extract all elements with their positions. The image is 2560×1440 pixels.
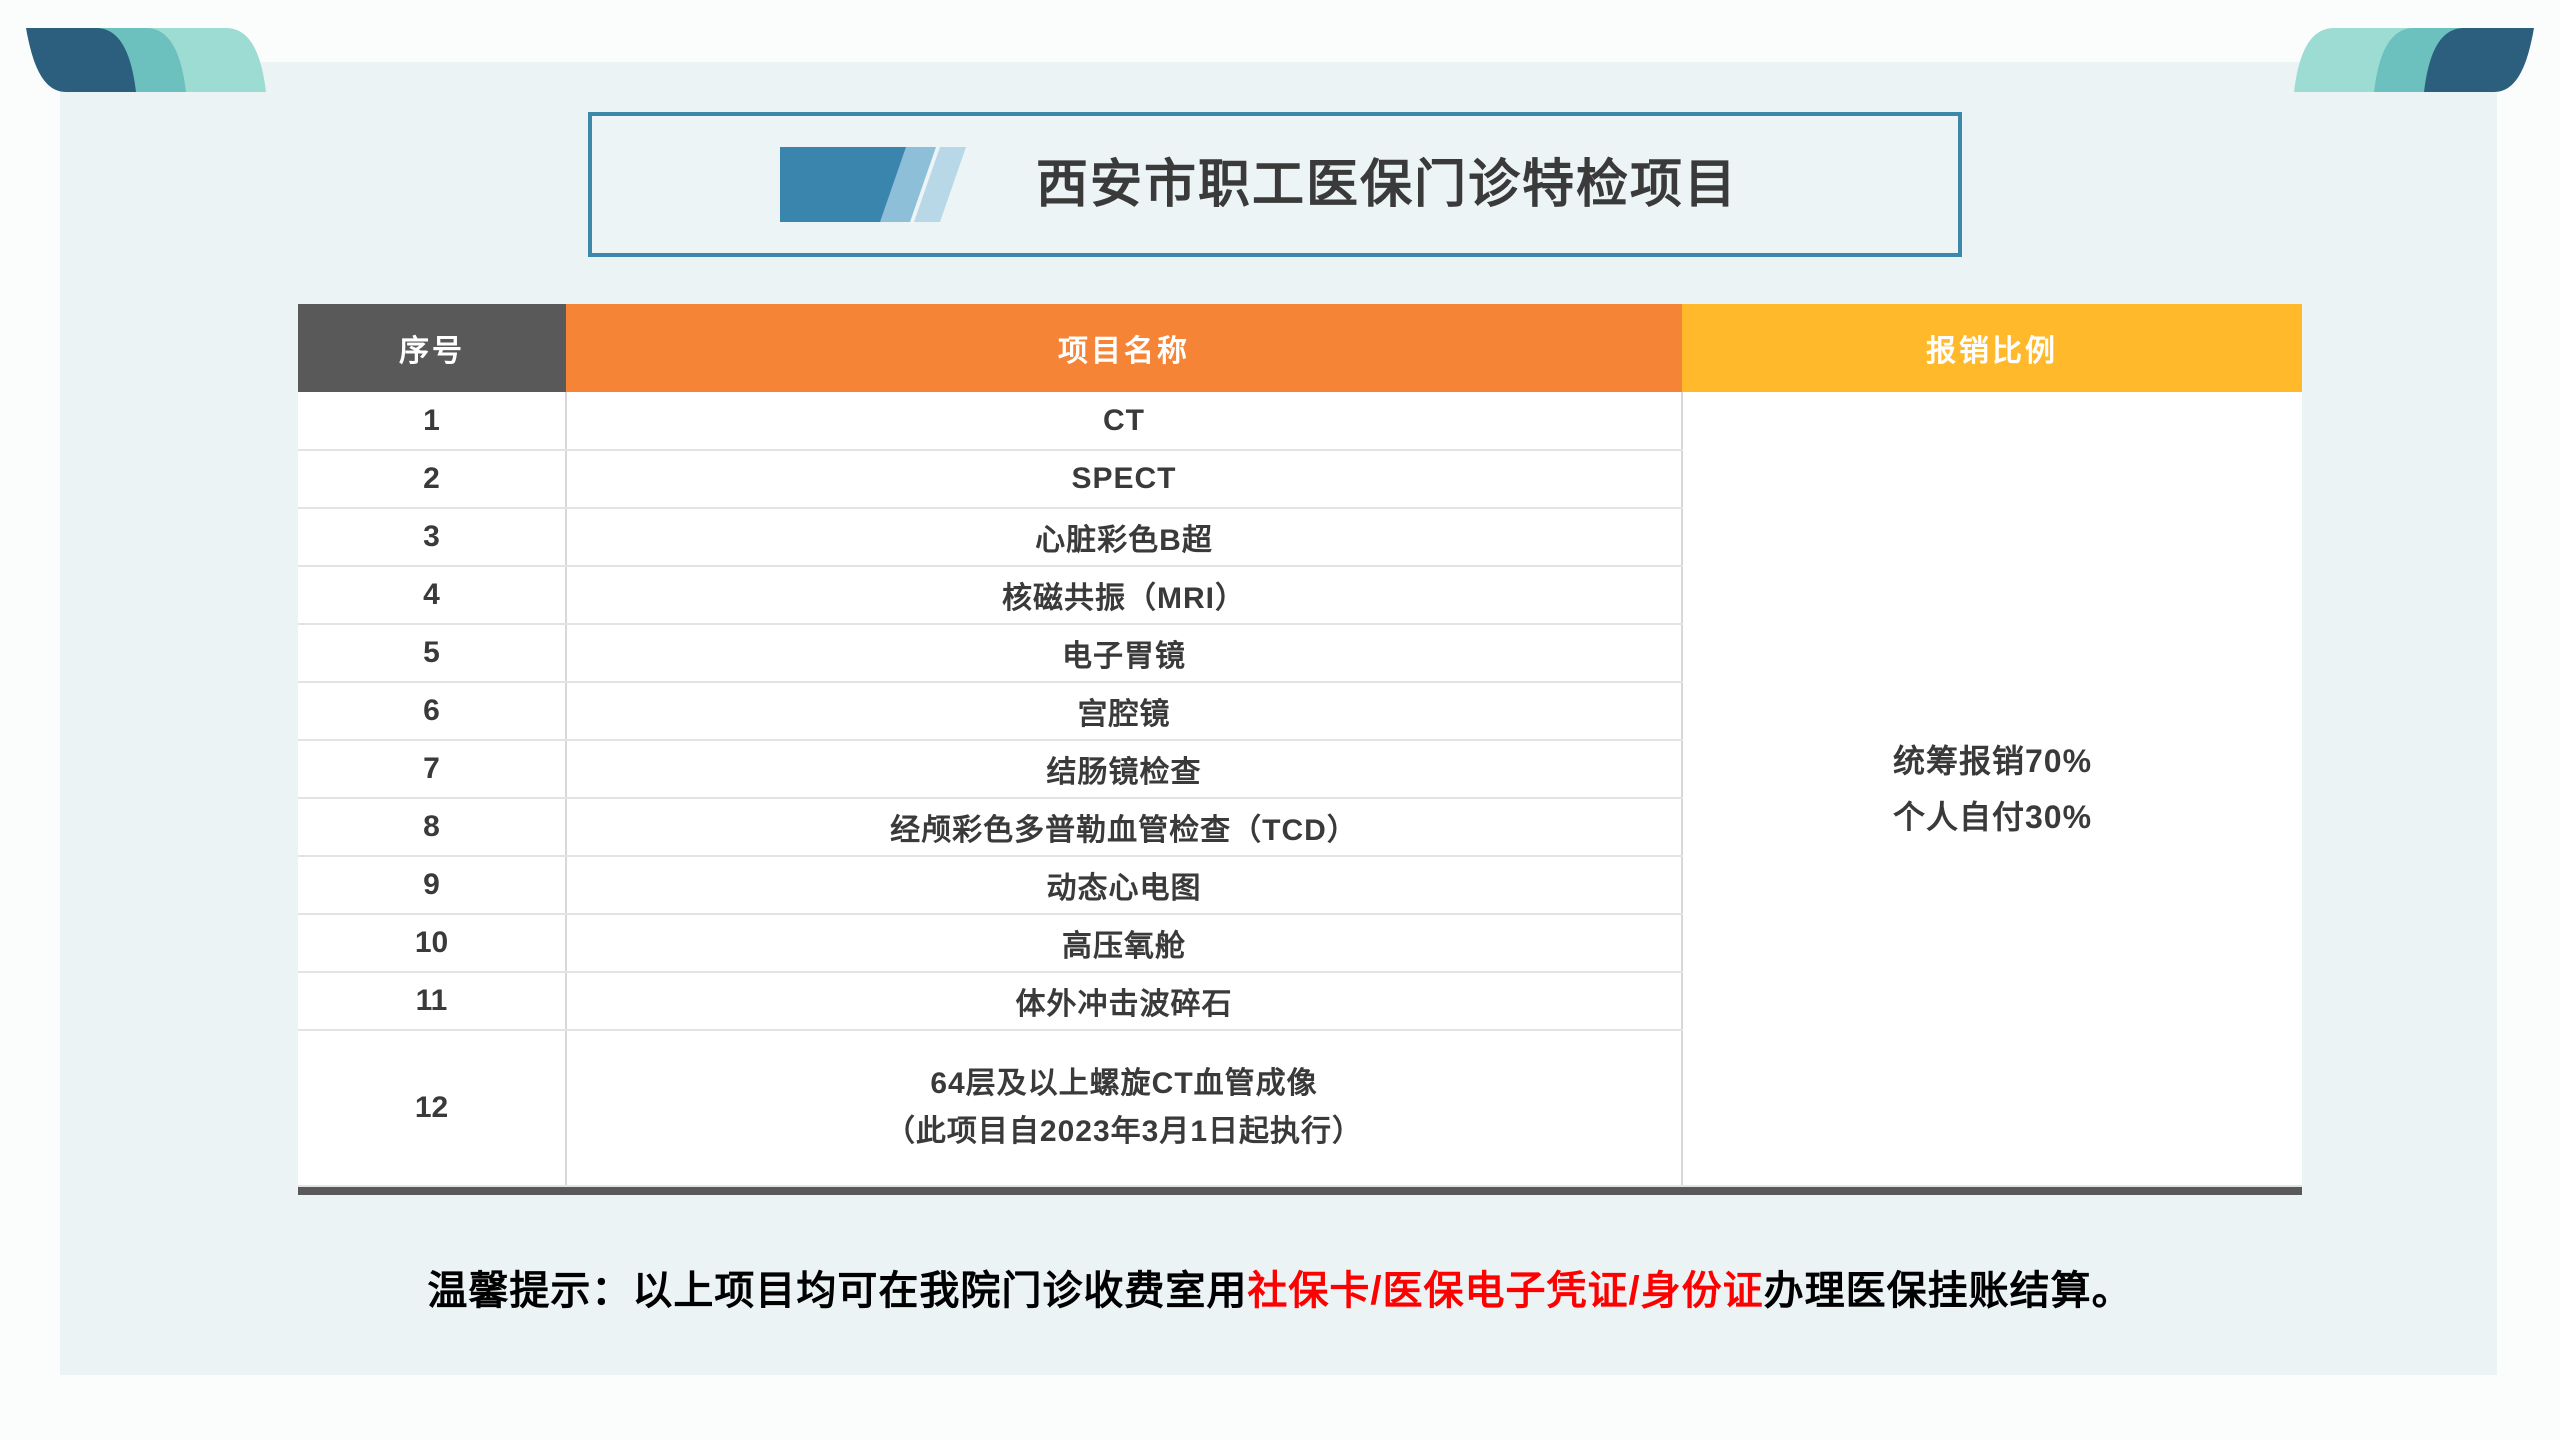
table-row: 1 CT 统筹报销70% 个人自付30% — [298, 392, 2302, 450]
row-item: CT — [566, 392, 1682, 450]
row-item: 电子胃镜 — [566, 624, 1682, 682]
column-header-name: 项目名称 — [566, 304, 1682, 392]
row-item: 高压氧舱 — [566, 914, 1682, 972]
footer-note: 温馨提示：以上项目均可在我院门诊收费室用社保卡/医保电子凭证/身份证办理医保挂账… — [0, 1258, 2560, 1316]
row-item: 核磁共振（MRI） — [566, 566, 1682, 624]
page-title: 西安市职工医保门诊特检项目 — [966, 159, 1958, 211]
row-index: 11 — [298, 972, 566, 1030]
reimbursement-cell: 统筹报销70% 个人自付30% — [1682, 392, 2302, 1186]
corner-ribbon-right-icon — [2294, 28, 2534, 92]
row-index: 10 — [298, 914, 566, 972]
column-header-index: 序号 — [298, 304, 566, 392]
row-index: 6 — [298, 682, 566, 740]
row-item-line-2: （此项目自2023年3月1日起执行） — [567, 1108, 1681, 1156]
slide-canvas: 西安市职工医保门诊特检项目 序号 项目名称 报销比例 1 CT 统筹报销70% — [0, 0, 2560, 1440]
footer-note-highlight: 社保卡/医保电子凭证/身份证 — [1247, 1269, 1763, 1313]
spec-table-wrapper: 序号 项目名称 报销比例 1 CT 统筹报销70% 个人自付30% 2 SPEC… — [298, 304, 2302, 1195]
row-item: SPECT — [566, 450, 1682, 508]
row-index: 8 — [298, 798, 566, 856]
footer-note-prefix: 温馨提示：以上项目均可在我院门诊收费室用 — [427, 1269, 1247, 1313]
row-index: 4 — [298, 566, 566, 624]
row-item: 64层及以上螺旋CT血管成像 （此项目自2023年3月1日起执行） — [566, 1030, 1682, 1186]
row-index: 7 — [298, 740, 566, 798]
reimbursement-line-2: 个人自付30% — [1683, 789, 2302, 845]
footer-note-suffix: 办理医保挂账结算。 — [1764, 1269, 2133, 1313]
row-item: 宫腔镜 — [566, 682, 1682, 740]
row-item: 动态心电图 — [566, 856, 1682, 914]
row-item: 结肠镜检查 — [566, 740, 1682, 798]
table-header-row: 序号 项目名称 报销比例 — [298, 304, 2302, 392]
row-index: 1 — [298, 392, 566, 450]
row-item-line-1: 64层及以上螺旋CT血管成像 — [567, 1060, 1681, 1108]
row-item: 经颅彩色多普勒血管检查（TCD） — [566, 798, 1682, 856]
spec-table: 序号 项目名称 报销比例 1 CT 统筹报销70% 个人自付30% 2 SPEC… — [298, 304, 2302, 1187]
brand-logo-icon — [780, 147, 966, 222]
reimbursement-line-1: 统筹报销70% — [1683, 733, 2302, 789]
corner-ribbon-left-icon — [26, 28, 266, 92]
title-box: 西安市职工医保门诊特检项目 — [588, 112, 1962, 257]
row-item: 心脏彩色B超 — [566, 508, 1682, 566]
row-index: 2 — [298, 450, 566, 508]
row-item: 体外冲击波碎石 — [566, 972, 1682, 1030]
row-index: 5 — [298, 624, 566, 682]
row-index: 9 — [298, 856, 566, 914]
row-index: 3 — [298, 508, 566, 566]
row-index: 12 — [298, 1030, 566, 1186]
column-header-rate: 报销比例 — [1682, 304, 2302, 392]
